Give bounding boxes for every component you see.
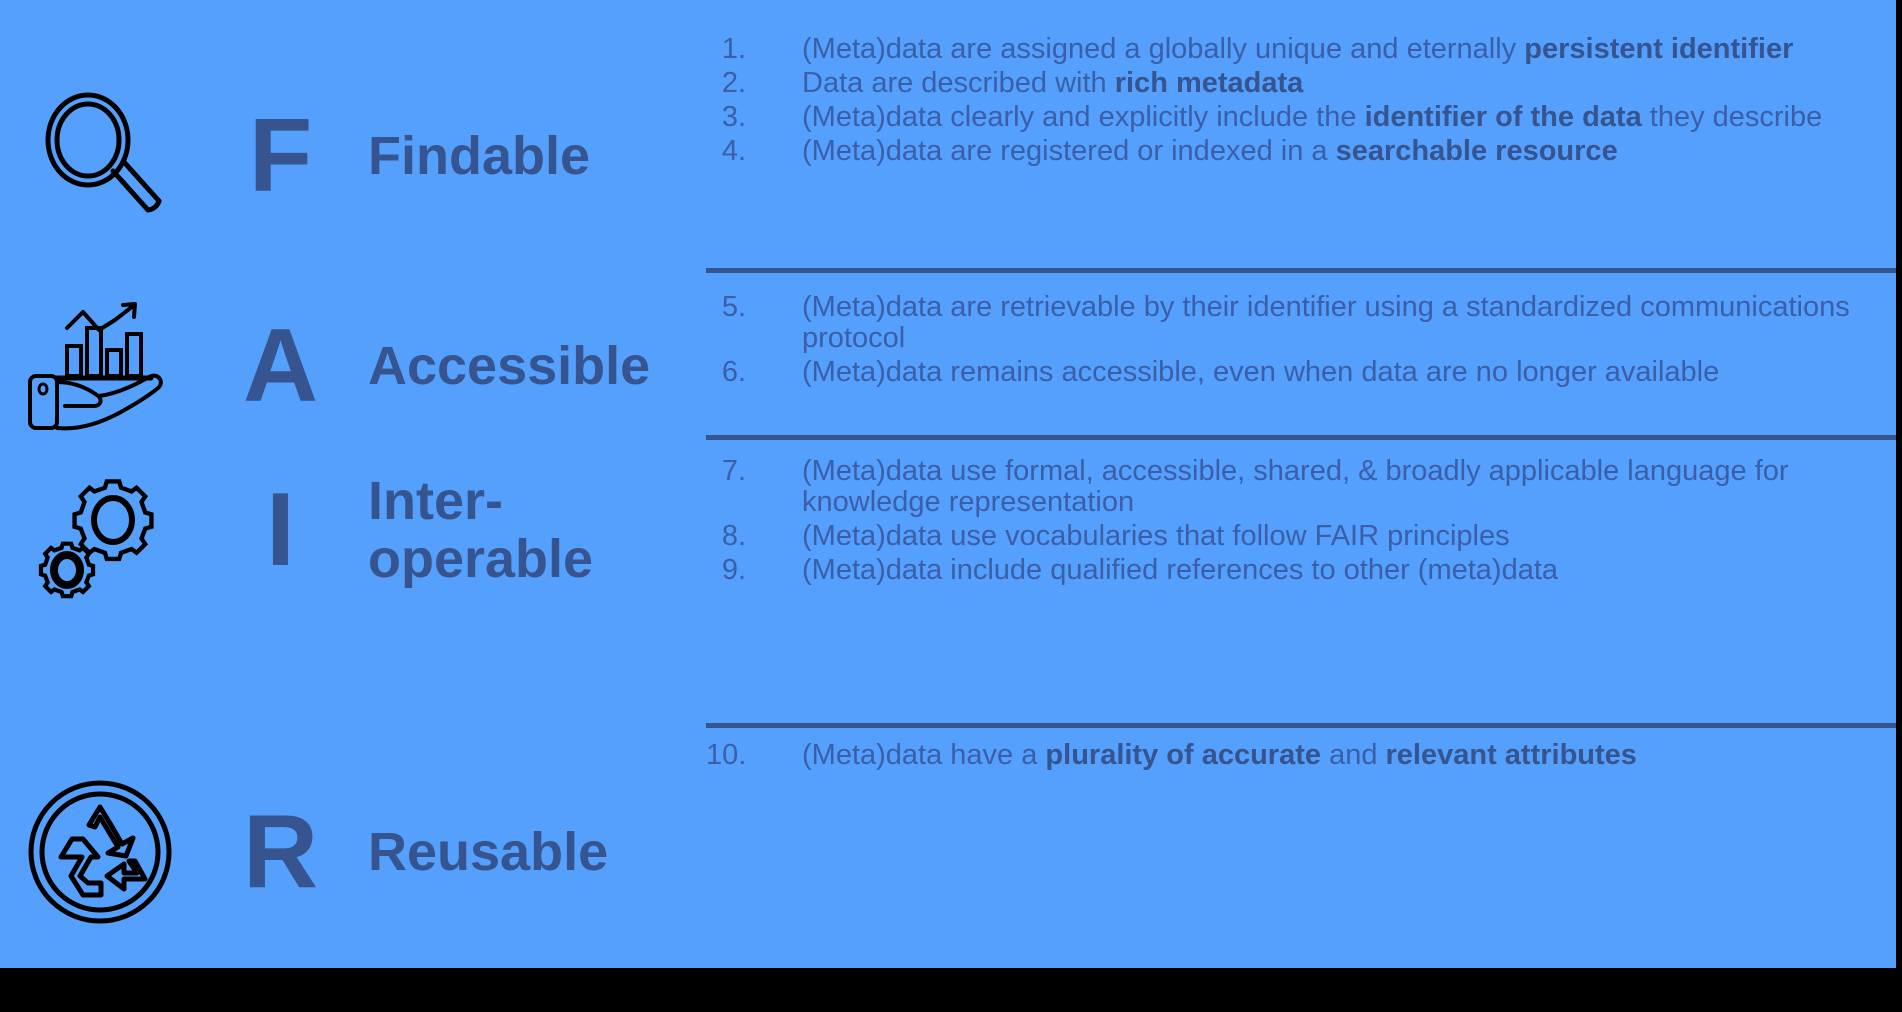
magnifying-glass-icon — [0, 88, 200, 224]
principles-group-accessible: 5.(Meta)data are retrievable by their id… — [706, 292, 1896, 391]
principle-item: 8.(Meta)data use vocabularies that follo… — [706, 521, 1896, 552]
principle-text: (Meta)data clearly and explicitly includ… — [802, 102, 1896, 133]
fair-letter-r: R — [200, 800, 360, 904]
principle-number: 6. — [706, 357, 802, 388]
fair-row-reusable: R Reusable — [0, 762, 706, 942]
principle-text: (Meta)data remains accessible, even when… — [802, 357, 1896, 388]
fair-letter-a: A — [200, 314, 360, 418]
principle-item: 4.(Meta)data are registered or indexed i… — [706, 136, 1896, 167]
fair-principles-slide: F Findable — [0, 0, 1896, 968]
fair-row-accessible: A Accessible — [0, 286, 706, 446]
group-divider-1 — [706, 268, 1896, 273]
principle-item: 2.Data are described with rich metadata — [706, 68, 1896, 99]
principle-text: (Meta)data are retrievable by their iden… — [802, 292, 1896, 354]
principle-item: 7.(Meta)data use formal, accessible, sha… — [706, 456, 1896, 518]
principle-text: (Meta)data are assigned a globally uniqu… — [802, 34, 1896, 65]
recycle-circle-icon — [0, 777, 200, 927]
principle-text: (Meta)data are registered or indexed in … — [802, 136, 1896, 167]
fair-row-findable: F Findable — [0, 76, 706, 236]
principle-item: 3.(Meta)data clearly and explicitly incl… — [706, 102, 1896, 133]
principle-item: 10.(Meta)data have a plurality of accura… — [706, 740, 1896, 771]
group-divider-3 — [706, 723, 1896, 728]
fair-letter-i: I — [200, 478, 360, 582]
principle-text: (Meta)data use formal, accessible, share… — [802, 456, 1896, 518]
principles-column: 1.(Meta)data are assigned a globally uni… — [706, 0, 1896, 968]
principles-group-interoperable: 7.(Meta)data use formal, accessible, sha… — [706, 456, 1896, 589]
gears-icon — [0, 455, 200, 605]
fair-word-interoperable-line1: Inter- — [368, 472, 706, 530]
group-divider-2 — [706, 435, 1896, 440]
fair-word-interoperable-line2: operable — [368, 530, 706, 588]
fair-word-accessible: Accessible — [360, 337, 706, 395]
principle-number: 7. — [706, 456, 802, 487]
principle-item: 1.(Meta)data are assigned a globally uni… — [706, 34, 1896, 65]
principle-number: 9. — [706, 555, 802, 586]
principles-group-findable: 1.(Meta)data are assigned a globally uni… — [706, 34, 1896, 170]
principle-item: 6.(Meta)data remains accessible, even wh… — [706, 357, 1896, 388]
principle-number: 4. — [706, 136, 802, 167]
principle-text: (Meta)data use vocabularies that follow … — [802, 521, 1896, 552]
principle-number: 3. — [706, 102, 802, 133]
fair-row-interoperable: I Inter- operable — [0, 440, 706, 620]
principle-number: 8. — [706, 521, 802, 552]
principle-number: 2. — [706, 68, 802, 99]
hand-holding-bar-chart-icon — [0, 298, 200, 434]
fair-word-findable: Findable — [360, 127, 706, 185]
principle-text: (Meta)data include qualified references … — [802, 555, 1896, 586]
fair-letters-column: F Findable — [0, 0, 706, 968]
principle-number: 10. — [706, 740, 802, 771]
principle-number: 5. — [706, 292, 802, 323]
fair-word-interoperable: Inter- operable — [360, 472, 706, 589]
fair-word-reusable: Reusable — [360, 823, 706, 881]
principles-group-reusable: 10.(Meta)data have a plurality of accura… — [706, 740, 1896, 773]
principle-text: Data are described with rich metadata — [802, 68, 1896, 99]
principle-item: 9.(Meta)data include qualified reference… — [706, 555, 1896, 586]
fair-letter-f: F — [200, 104, 360, 208]
principle-text: (Meta)data have a plurality of accurate … — [802, 740, 1896, 771]
principle-number: 1. — [706, 34, 802, 65]
principle-item: 5.(Meta)data are retrievable by their id… — [706, 292, 1896, 354]
